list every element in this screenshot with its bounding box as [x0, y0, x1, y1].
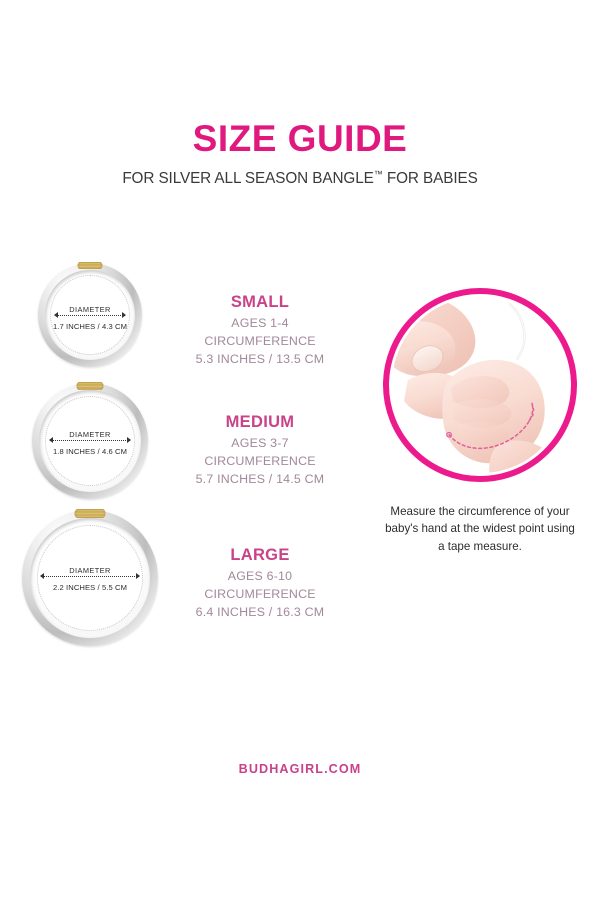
bangle-illustration-medium: DIAMETER 1.8 INCHES / 4.6 CM — [0, 383, 180, 499]
size-circumference-value-medium: 5.7 INCHES / 14.5 CM — [180, 471, 340, 489]
size-ages-large: AGES 6-10 — [180, 568, 340, 586]
header: SIZE GUIDE FOR SILVER ALL SEASON BANGLE™… — [0, 120, 600, 188]
size-circumference-label-medium: CIRCUMFERENCE — [180, 453, 340, 471]
trademark-icon: ™ — [374, 169, 383, 179]
diameter-value: 2.2 INCHES / 5.5 CM — [22, 583, 158, 592]
size-circumference-value-large: 6.4 INCHES / 16.3 CM — [180, 604, 340, 622]
bangle-diameter-callout: DIAMETER 2.2 INCHES / 5.5 CM — [22, 566, 158, 592]
page-subtitle-text-end: FOR BABIES — [383, 170, 478, 187]
size-name-small: SMALL — [180, 293, 340, 312]
bangle-illustration-large: DIAMETER 2.2 INCHES / 5.5 CM — [0, 510, 180, 646]
baby-hand-photo-circle — [383, 288, 577, 482]
baby-hand-photo-art — [389, 294, 571, 476]
size-ages-medium: AGES 3-7 — [180, 435, 340, 453]
size-name-medium: MEDIUM — [180, 413, 340, 432]
page-subtitle: FOR SILVER ALL SEASON BANGLE™ FOR BABIES — [0, 169, 600, 188]
bangle-diameter-callout: DIAMETER 1.8 INCHES / 4.6 CM — [32, 430, 148, 456]
bangle-illustration-small: DIAMETER 1.7 INCHES / 4.3 CM — [0, 263, 180, 367]
size-ages-small: AGES 1-4 — [180, 315, 340, 333]
diameter-value: 1.8 INCHES / 4.6 CM — [32, 447, 148, 456]
photo-caption: Measure the circumference of your baby's… — [383, 503, 577, 555]
page-subtitle-text: FOR SILVER ALL SEASON BANGLE — [122, 170, 373, 187]
size-circumference-label-small: CIRCUMFERENCE — [180, 333, 340, 351]
size-block-medium: MEDIUM AGES 3-7 CIRCUMFERENCE 5.7 INCHES… — [180, 413, 340, 489]
size-circumference-label-large: CIRCUMFERENCE — [180, 586, 340, 604]
bangle-gold-clasp-icon — [78, 262, 103, 269]
size-name-large: LARGE — [180, 546, 340, 565]
size-block-large: LARGE AGES 6-10 CIRCUMFERENCE 6.4 INCHES… — [180, 546, 340, 622]
diameter-value: 1.7 INCHES / 4.3 CM — [38, 322, 142, 331]
bangle-diameter-callout: DIAMETER 1.7 INCHES / 4.3 CM — [38, 305, 142, 331]
diameter-arrow-line-icon — [41, 576, 139, 582]
main-content: DIAMETER 1.7 INCHES / 4.3 CM DIAMETER 1.… — [0, 255, 600, 655]
size-circumference-value-small: 5.3 INCHES / 13.5 CM — [180, 351, 340, 369]
website-link[interactable]: BUDHAGIRL.COM — [239, 762, 362, 776]
bangle-gold-clasp-icon — [75, 509, 106, 518]
diameter-arrow-line-icon — [55, 315, 125, 321]
footer: BUDHAGIRL.COM — [0, 760, 600, 778]
photo-panel: Measure the circumference of your baby's… — [383, 288, 583, 555]
diameter-arrow-line-icon — [50, 440, 130, 446]
page-title: SIZE GUIDE — [0, 120, 600, 159]
bangle-gold-clasp-icon — [77, 382, 104, 390]
size-block-small: SMALL AGES 1-4 CIRCUMFERENCE 5.3 INCHES … — [180, 293, 340, 369]
